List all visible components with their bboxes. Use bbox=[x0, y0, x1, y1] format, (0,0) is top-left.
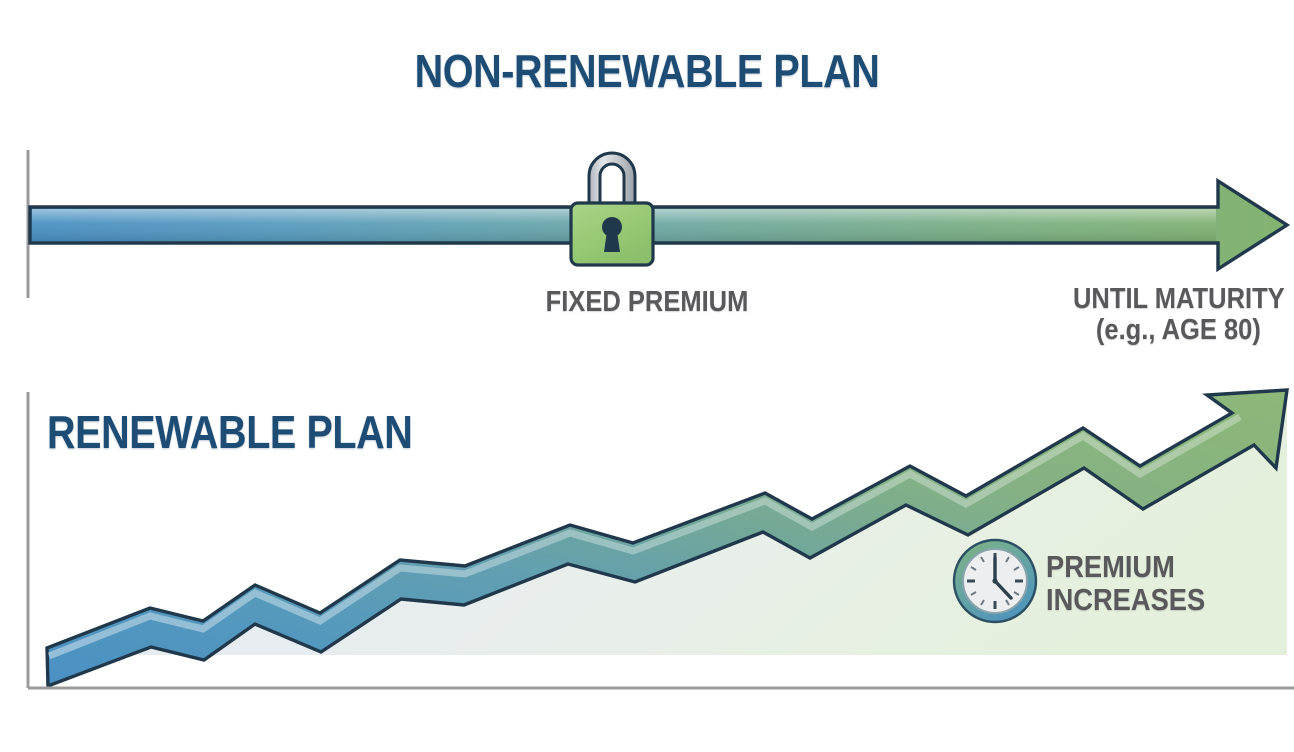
lock-shackle bbox=[589, 153, 635, 205]
non-renewable-diagram bbox=[0, 0, 1294, 752]
horizontal-arrow bbox=[30, 181, 1287, 269]
page-title-renewable: RENEWABLE PLAN bbox=[47, 405, 412, 459]
label-until-maturity-line1: UNTIL MATURITY bbox=[1073, 283, 1285, 315]
label-fixed-premium: FIXED PREMIUM bbox=[78, 286, 1217, 319]
label-until-maturity-line2: (e.g., AGE 80) bbox=[1073, 315, 1285, 346]
infographic-canvas: NON-RENEWABLE PLAN bbox=[0, 0, 1294, 752]
label-premium-increases-line1: PREMIUM bbox=[1046, 549, 1175, 584]
lock-icon bbox=[571, 153, 653, 265]
label-until-maturity: UNTIL MATURITY (e.g., AGE 80) bbox=[1073, 284, 1285, 347]
label-premium-increases: PREMIUM INCREASES bbox=[1046, 551, 1205, 617]
label-premium-increases-line2: INCREASES bbox=[1046, 582, 1205, 617]
